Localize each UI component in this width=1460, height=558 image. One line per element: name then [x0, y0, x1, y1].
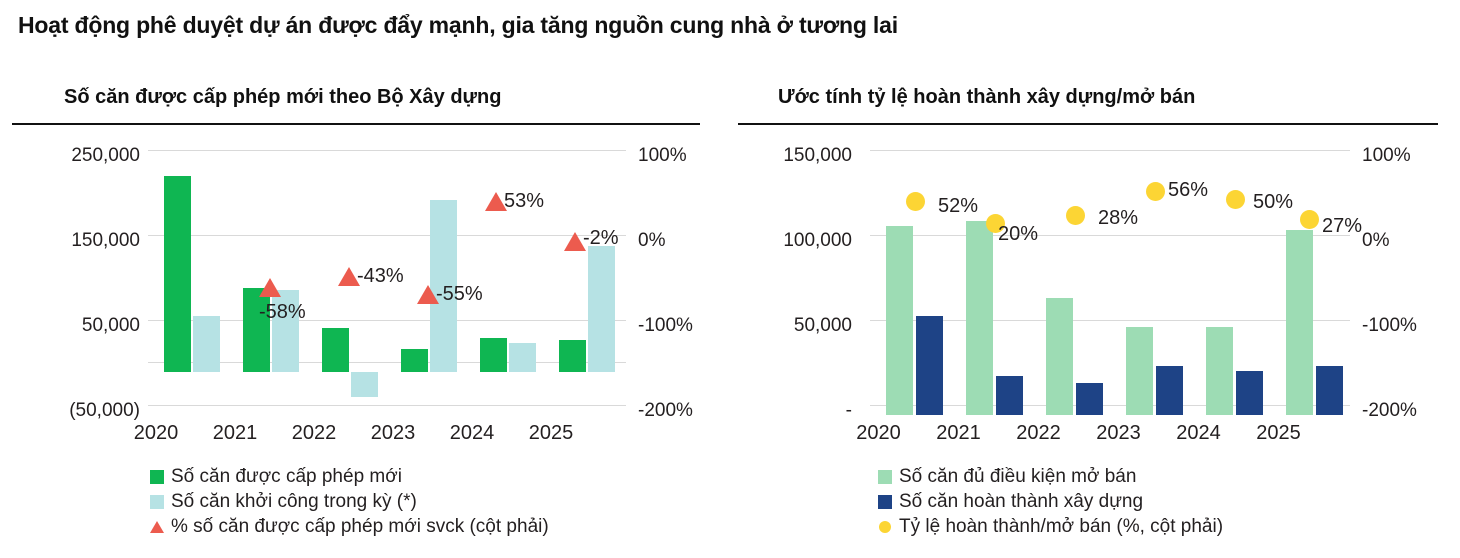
y2-axis-label-right-3: -200%	[1362, 401, 1417, 420]
x-label-2020: 2020	[118, 423, 194, 443]
chart-title-left: Số căn được cấp phép mới theo Bộ Xây dựn…	[64, 86, 501, 109]
chart-panel-left: Số căn được cấp phép mới theo Bộ Xây dựn…	[0, 78, 730, 558]
x-label-2024: 2024	[434, 423, 510, 443]
bar-permits-2020	[164, 176, 191, 372]
legend-item-starts[interactable]: Số căn khởi công trong kỳ (*)	[150, 489, 549, 514]
y2-axis-label-right-0: 100%	[1362, 146, 1411, 165]
bar-starts-2020	[193, 316, 220, 372]
legend-swatch-square-navy-icon	[878, 495, 892, 509]
bar-eligible-2023	[1126, 327, 1153, 415]
y2-axis-label-right-2: -100%	[1362, 316, 1417, 335]
bar-completed-2021	[996, 376, 1023, 415]
x-label-2022: 2022	[276, 423, 352, 443]
legend-item-permits[interactable]: Số căn được cấp phép mới	[150, 464, 549, 489]
y-axis-label-right-3: -	[740, 401, 852, 420]
x-label-2025: 2025	[1240, 423, 1317, 443]
y2-axis-label-left-0: 100%	[638, 146, 687, 165]
legend-label-permits: Số căn được cấp phép mới	[171, 467, 402, 486]
legend-swatch-circle-yellow-icon	[879, 521, 891, 533]
marker-label-2021: -58%	[259, 302, 306, 322]
bar-permits-2025	[559, 340, 586, 372]
bar-completed-2020	[916, 316, 943, 415]
bar-starts-2024	[509, 343, 536, 372]
bar-eligible-2025	[1286, 230, 1313, 415]
legend-item-yoy[interactable]: % số căn được cấp phép mới svck (cột phả…	[150, 514, 549, 539]
bar-eligible-2022	[1046, 298, 1073, 415]
bar-eligible-2021	[966, 221, 993, 415]
x-label-2020: 2020	[840, 423, 917, 443]
marker-label-2024: 53%	[504, 191, 544, 211]
marker-label-2020: 52%	[938, 196, 978, 216]
legend-label-starts: Số căn khởi công trong kỳ (*)	[171, 492, 417, 511]
marker-dot-2024	[1226, 190, 1245, 209]
marker-label-2022: 28%	[1098, 208, 1138, 228]
y2-axis-label-left-2: -100%	[638, 316, 693, 335]
x-label-2023: 2023	[1080, 423, 1157, 443]
legend-left: Số căn được cấp phép mới Số căn khởi côn…	[150, 464, 549, 539]
x-label-2022: 2022	[1000, 423, 1077, 443]
legend-label-completed: Số căn hoàn thành xây dựng	[899, 492, 1143, 511]
legend-item-completed[interactable]: Số căn hoàn thành xây dựng	[878, 489, 1223, 514]
legend-label-eligible: Số căn đủ điều kiện mở bán	[899, 467, 1136, 486]
title-divider-right	[738, 123, 1438, 125]
marker-dot-2022	[1066, 206, 1085, 225]
bar-completed-2022	[1076, 383, 1103, 415]
bar-group-2025	[1278, 150, 1355, 415]
marker-label-2023: -55%	[436, 284, 483, 304]
legend-swatch-triangle-red-icon	[150, 521, 164, 533]
x-label-2021: 2021	[920, 423, 997, 443]
chart-panel-right: Ước tính tỷ lệ hoàn thành xây dựng/mở bá…	[730, 78, 1460, 558]
x-axis-left: 2020 2021 2022 2023 2024 2025	[0, 423, 730, 451]
bar-group-2022	[1038, 150, 1115, 415]
y-axis-label-right-2: 50,000	[740, 316, 852, 335]
marker-dot-2025	[1300, 210, 1319, 229]
marker-dot-2023	[1146, 182, 1165, 201]
bar-group-2020	[878, 150, 955, 415]
y2-axis-label-left-3: -200%	[638, 401, 693, 420]
chart-title-right: Ước tính tỷ lệ hoàn thành xây dựng/mở bá…	[778, 86, 1195, 109]
bar-eligible-2024	[1206, 327, 1233, 415]
legend-swatch-square-lightblue-icon	[150, 495, 164, 509]
x-label-2021: 2021	[197, 423, 273, 443]
marker-label-2023: 56%	[1168, 180, 1208, 200]
page-title: Hoạt động phê duyệt dự án được đẩy mạnh,…	[18, 12, 898, 39]
legend-item-ratio[interactable]: Tỷ lệ hoàn thành/mở bán (%, cột phải)	[878, 514, 1223, 539]
marker-label-2022: -43%	[357, 266, 404, 286]
plot-area-right: 52% 20% 28% 56% 50% 27%	[870, 150, 1350, 415]
plot-area-left: -58% -43% -55% 53% -2%	[148, 150, 626, 415]
chart-page: Hoạt động phê duyệt dự án được đẩy mạnh,…	[0, 0, 1460, 558]
bar-permits-2024	[480, 338, 507, 372]
marker-label-2025: 27%	[1322, 216, 1362, 236]
bar-permits-2023	[401, 349, 428, 372]
marker-label-2025: -2%	[583, 228, 619, 248]
marker-label-2021: 20%	[998, 224, 1038, 244]
bar-starts-2025	[588, 246, 615, 372]
y2-axis-label-right-1: 0%	[1362, 231, 1389, 250]
legend-item-eligible[interactable]: Số căn đủ điều kiện mở bán	[878, 464, 1223, 489]
y-axis-label-left-1: 150,000	[28, 231, 140, 250]
legend-swatch-square-green-icon	[150, 470, 164, 484]
legend-right: Số căn đủ điều kiện mở bán Số căn hoàn t…	[878, 464, 1223, 539]
x-label-2024: 2024	[1160, 423, 1237, 443]
x-axis-right: 2020 2021 2022 2023 2024 2025	[730, 423, 1460, 451]
y2-axis-label-left-1: 0%	[638, 231, 665, 250]
bar-permits-2022	[322, 328, 349, 372]
bar-completed-2023	[1156, 366, 1183, 415]
bar-group-2020	[156, 150, 232, 415]
marker-triangle-2021	[259, 278, 281, 297]
legend-label-ratio: Tỷ lệ hoàn thành/mở bán (%, cột phải)	[899, 517, 1223, 536]
bar-group-2021	[958, 150, 1035, 415]
legend-swatch-square-mint-icon	[878, 470, 892, 484]
title-divider-left	[12, 123, 700, 125]
x-label-2023: 2023	[355, 423, 431, 443]
legend-label-yoy: % số căn được cấp phép mới svck (cột phả…	[171, 517, 549, 536]
y-axis-label-left-3: (50,000)	[18, 401, 140, 420]
bar-starts-2022	[351, 372, 378, 397]
y-axis-label-left-0: 250,000	[28, 146, 140, 165]
bar-group-2025	[551, 150, 627, 415]
x-label-2025: 2025	[513, 423, 589, 443]
bar-completed-2025	[1316, 366, 1343, 415]
marker-label-2024: 50%	[1253, 192, 1293, 212]
bar-completed-2024	[1236, 371, 1263, 415]
y-axis-label-right-1: 100,000	[740, 231, 852, 250]
y-axis-label-right-0: 150,000	[740, 146, 852, 165]
bar-eligible-2020	[886, 226, 913, 415]
marker-dot-2020	[906, 192, 925, 211]
y-axis-label-left-2: 50,000	[28, 316, 140, 335]
